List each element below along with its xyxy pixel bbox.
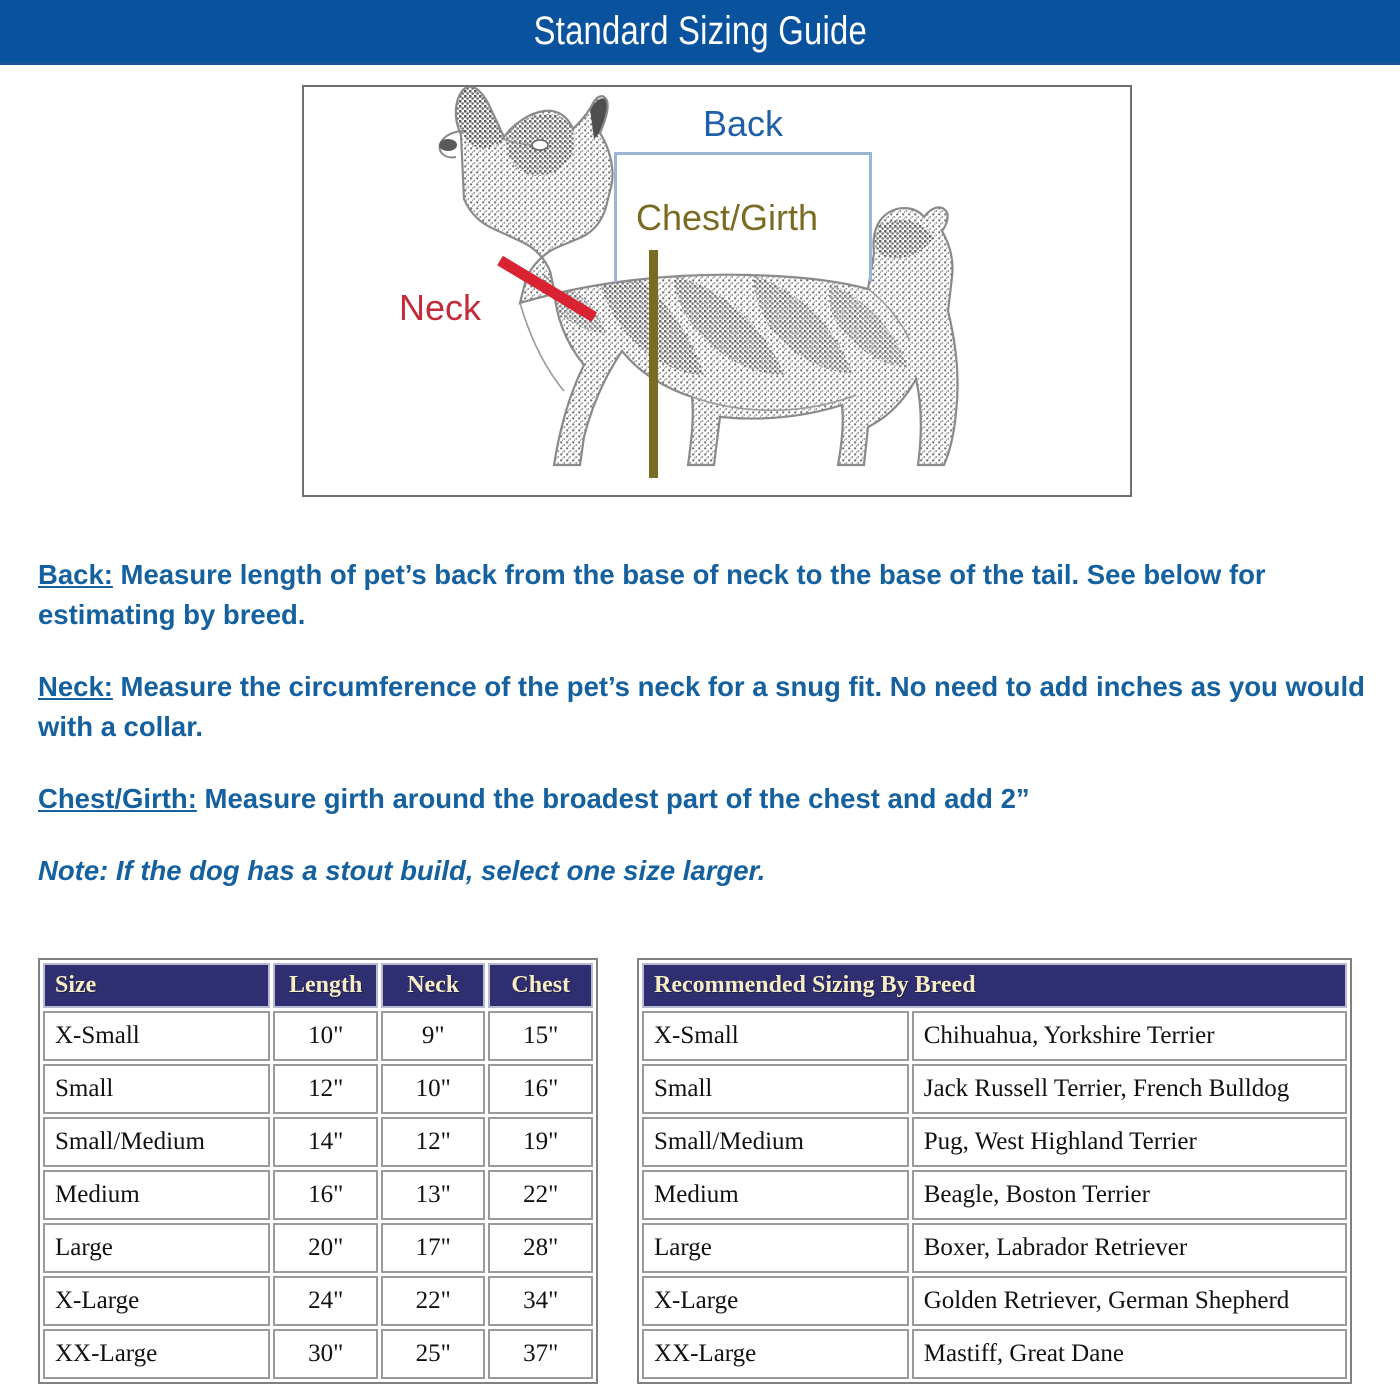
measurement-cell: 28" <box>488 1223 593 1273</box>
table-row: Medium16"13"22" <box>43 1170 593 1220</box>
measurement-cell: 37" <box>488 1329 593 1379</box>
label-chest-girth: Chest/Girth <box>636 197 818 239</box>
instruction-chest-text: Measure girth around the broadest part o… <box>197 783 1030 814</box>
measurement-cell: 30" <box>273 1329 378 1379</box>
breed-cell: Golden Retriever, German Shepherd <box>912 1276 1347 1326</box>
instruction-neck-text: Measure the circumference of the pet’s n… <box>38 671 1365 742</box>
label-neck: Neck <box>399 287 481 329</box>
note-text: Note: If the dog has a stout build, sele… <box>38 851 1368 891</box>
size-table-header-chest: Chest <box>488 963 593 1008</box>
measurement-cell: 19" <box>488 1117 593 1167</box>
size-cell: Small/Medium <box>642 1117 909 1167</box>
table-row: Large20"17"28" <box>43 1223 593 1273</box>
dog-measurement-diagram: Back Chest/Girth Neck <box>302 85 1132 497</box>
measurement-cell: 17" <box>381 1223 486 1273</box>
breed-table-header-row: Recommended Sizing By Breed <box>642 963 1347 1008</box>
table-row: Small/Medium14"12"19" <box>43 1117 593 1167</box>
measurement-cell: 16" <box>488 1064 593 1114</box>
instruction-back: Back: Measure length of pet’s back from … <box>38 555 1368 635</box>
breed-cell: Boxer, Labrador Retriever <box>912 1223 1347 1273</box>
table-row: MediumBeagle, Boston Terrier <box>642 1170 1347 1220</box>
table-row: XX-LargeMastiff, Great Dane <box>642 1329 1347 1379</box>
breed-cell: Mastiff, Great Dane <box>912 1329 1347 1379</box>
breed-cell: Jack Russell Terrier, French Bulldog <box>912 1064 1347 1114</box>
measurement-cell: 16" <box>273 1170 378 1220</box>
measurement-cell: 9" <box>381 1011 486 1061</box>
measurement-cell: 20" <box>273 1223 378 1273</box>
size-cell: Medium <box>642 1170 909 1220</box>
measurement-cell: 25" <box>381 1329 486 1379</box>
size-cell: X-Large <box>642 1276 909 1326</box>
measurement-cell: 12" <box>381 1117 486 1167</box>
table-row: SmallJack Russell Terrier, French Bulldo… <box>642 1064 1347 1114</box>
breed-cell: Beagle, Boston Terrier <box>912 1170 1347 1220</box>
size-cell: X-Small <box>43 1011 270 1061</box>
size-cell: X-Large <box>43 1276 270 1326</box>
breed-cell: Pug, West Highland Terrier <box>912 1117 1347 1167</box>
measurement-cell: 12" <box>273 1064 378 1114</box>
breed-cell: Chihuahua, Yorkshire Terrier <box>912 1011 1347 1061</box>
measurement-cell: 10" <box>381 1064 486 1114</box>
measurement-cell: 13" <box>381 1170 486 1220</box>
size-table-header-row: Size Length Neck Chest <box>43 963 593 1008</box>
measurement-cell: 24" <box>273 1276 378 1326</box>
size-cell: XX-Large <box>642 1329 909 1379</box>
breed-table-body: X-SmallChihuahua, Yorkshire TerrierSmall… <box>642 1011 1347 1379</box>
size-cell: X-Small <box>642 1011 909 1061</box>
instruction-back-term: Back: <box>38 559 113 590</box>
table-row: XX-Large30"25"37" <box>43 1329 593 1379</box>
table-row: X-LargeGolden Retriever, German Shepherd <box>642 1276 1347 1326</box>
table-row: Small12"10"16" <box>43 1064 593 1114</box>
measurement-cell: 14" <box>273 1117 378 1167</box>
size-cell: Large <box>43 1223 270 1273</box>
size-table-body: X-Small10"9"15"Small12"10"16"Small/Mediu… <box>43 1011 593 1379</box>
measurement-cell: 10" <box>273 1011 378 1061</box>
size-cell: Large <box>642 1223 909 1273</box>
breed-table-container: Recommended Sizing By Breed X-SmallChihu… <box>637 958 1352 1384</box>
instruction-back-text: Measure length of pet’s back from the ba… <box>38 559 1266 630</box>
instruction-neck-term: Neck: <box>38 671 113 702</box>
table-row: X-Large24"22"34" <box>43 1276 593 1326</box>
size-table: Size Length Neck Chest X-Small10"9"15"Sm… <box>38 958 598 1384</box>
size-table-container: Size Length Neck Chest X-Small10"9"15"Sm… <box>38 958 598 1384</box>
measurement-cell: 34" <box>488 1276 593 1326</box>
size-table-header-length: Length <box>273 963 378 1008</box>
table-row: Small/MediumPug, West Highland Terrier <box>642 1117 1347 1167</box>
instruction-chest-term: Chest/Girth: <box>38 783 197 814</box>
instruction-neck: Neck: Measure the circumference of the p… <box>38 667 1368 747</box>
breed-table: Recommended Sizing By Breed X-SmallChihu… <box>637 958 1352 1384</box>
chest-girth-line-icon <box>649 250 658 478</box>
header-divider <box>0 62 1400 65</box>
instruction-chest: Chest/Girth: Measure girth around the br… <box>38 779 1368 819</box>
size-cell: Medium <box>43 1170 270 1220</box>
size-cell: Small <box>43 1064 270 1114</box>
measurement-cell: 15" <box>488 1011 593 1061</box>
table-row: LargeBoxer, Labrador Retriever <box>642 1223 1347 1273</box>
size-cell: Small/Medium <box>43 1117 270 1167</box>
label-back: Back <box>614 103 872 145</box>
header-banner: Standard Sizing Guide <box>0 0 1400 62</box>
table-row: X-SmallChihuahua, Yorkshire Terrier <box>642 1011 1347 1061</box>
size-cell: XX-Large <box>43 1329 270 1379</box>
measurement-cell: 22" <box>488 1170 593 1220</box>
instructions-block: Back: Measure length of pet’s back from … <box>38 527 1368 918</box>
table-row: X-Small10"9"15" <box>43 1011 593 1061</box>
breed-table-header: Recommended Sizing By Breed <box>642 963 1347 1008</box>
size-cell: Small <box>642 1064 909 1114</box>
size-table-header-size: Size <box>43 963 270 1008</box>
measurement-cell: 22" <box>381 1276 486 1326</box>
size-table-header-neck: Neck <box>381 963 486 1008</box>
page-title: Standard Sizing Guide <box>533 9 866 54</box>
